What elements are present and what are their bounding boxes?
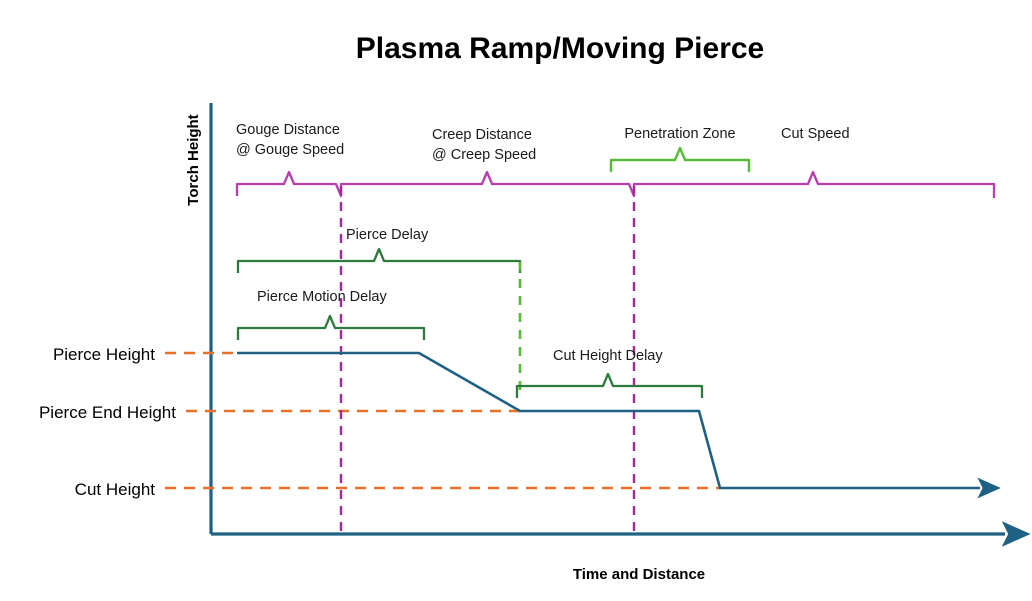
cut-height-delay-label: Cut Height Delay [553,348,663,364]
y-level-labels: Pierce Height Pierce End Height Cut Heig… [39,345,176,499]
speed-band-group [237,172,994,198]
speed-label-creep-line2: @ Creep Speed [432,147,536,163]
x-axis-title: Time and Distance [573,566,705,583]
cut-height-delay-bracket [517,374,702,398]
pierce-motion-delay-bracket-group: Pierce Motion Delay [238,289,424,340]
page-title: Plasma Ramp/Moving Pierce [356,32,765,65]
pierce-delay-bracket-group: Pierce Delay [238,227,520,273]
y-level-label-pierce-end-height: Pierce End Height [39,403,176,422]
pierce-delay-label: Pierce Delay [346,227,429,243]
y-axis-title: Torch Height [185,114,202,205]
level-reference-lines [165,353,720,488]
pierce-motion-delay-label: Pierce Motion Delay [257,289,387,305]
penetration-zone-label: Penetration Zone [624,126,735,142]
plasma-ramp-diagram: Plasma Ramp/Moving Pierce Torch Height T… [0,0,1032,596]
penetration-zone-bracket-group: Penetration Zone [611,126,749,172]
penetration-zone-bracket [611,148,749,172]
y-level-label-pierce-height: Pierce Height [53,345,155,364]
speed-band-line [237,172,994,198]
pierce-motion-delay-bracket [238,316,424,340]
cut-height-delay-bracket-group: Cut Height Delay [517,348,702,398]
speed-label-cut-speed: Cut Speed [781,126,850,142]
y-level-label-cut-height: Cut Height [75,480,156,499]
pierce-delay-bracket [238,249,520,273]
speed-label-creep-line1: Creep Distance [432,127,532,143]
speed-label-gouge-line1: Gouge Distance [236,122,340,138]
speed-label-gouge-line2: @ Gouge Speed [236,142,344,158]
speed-segment-labels: Gouge Distance @ Gouge Speed Creep Dista… [236,122,850,163]
